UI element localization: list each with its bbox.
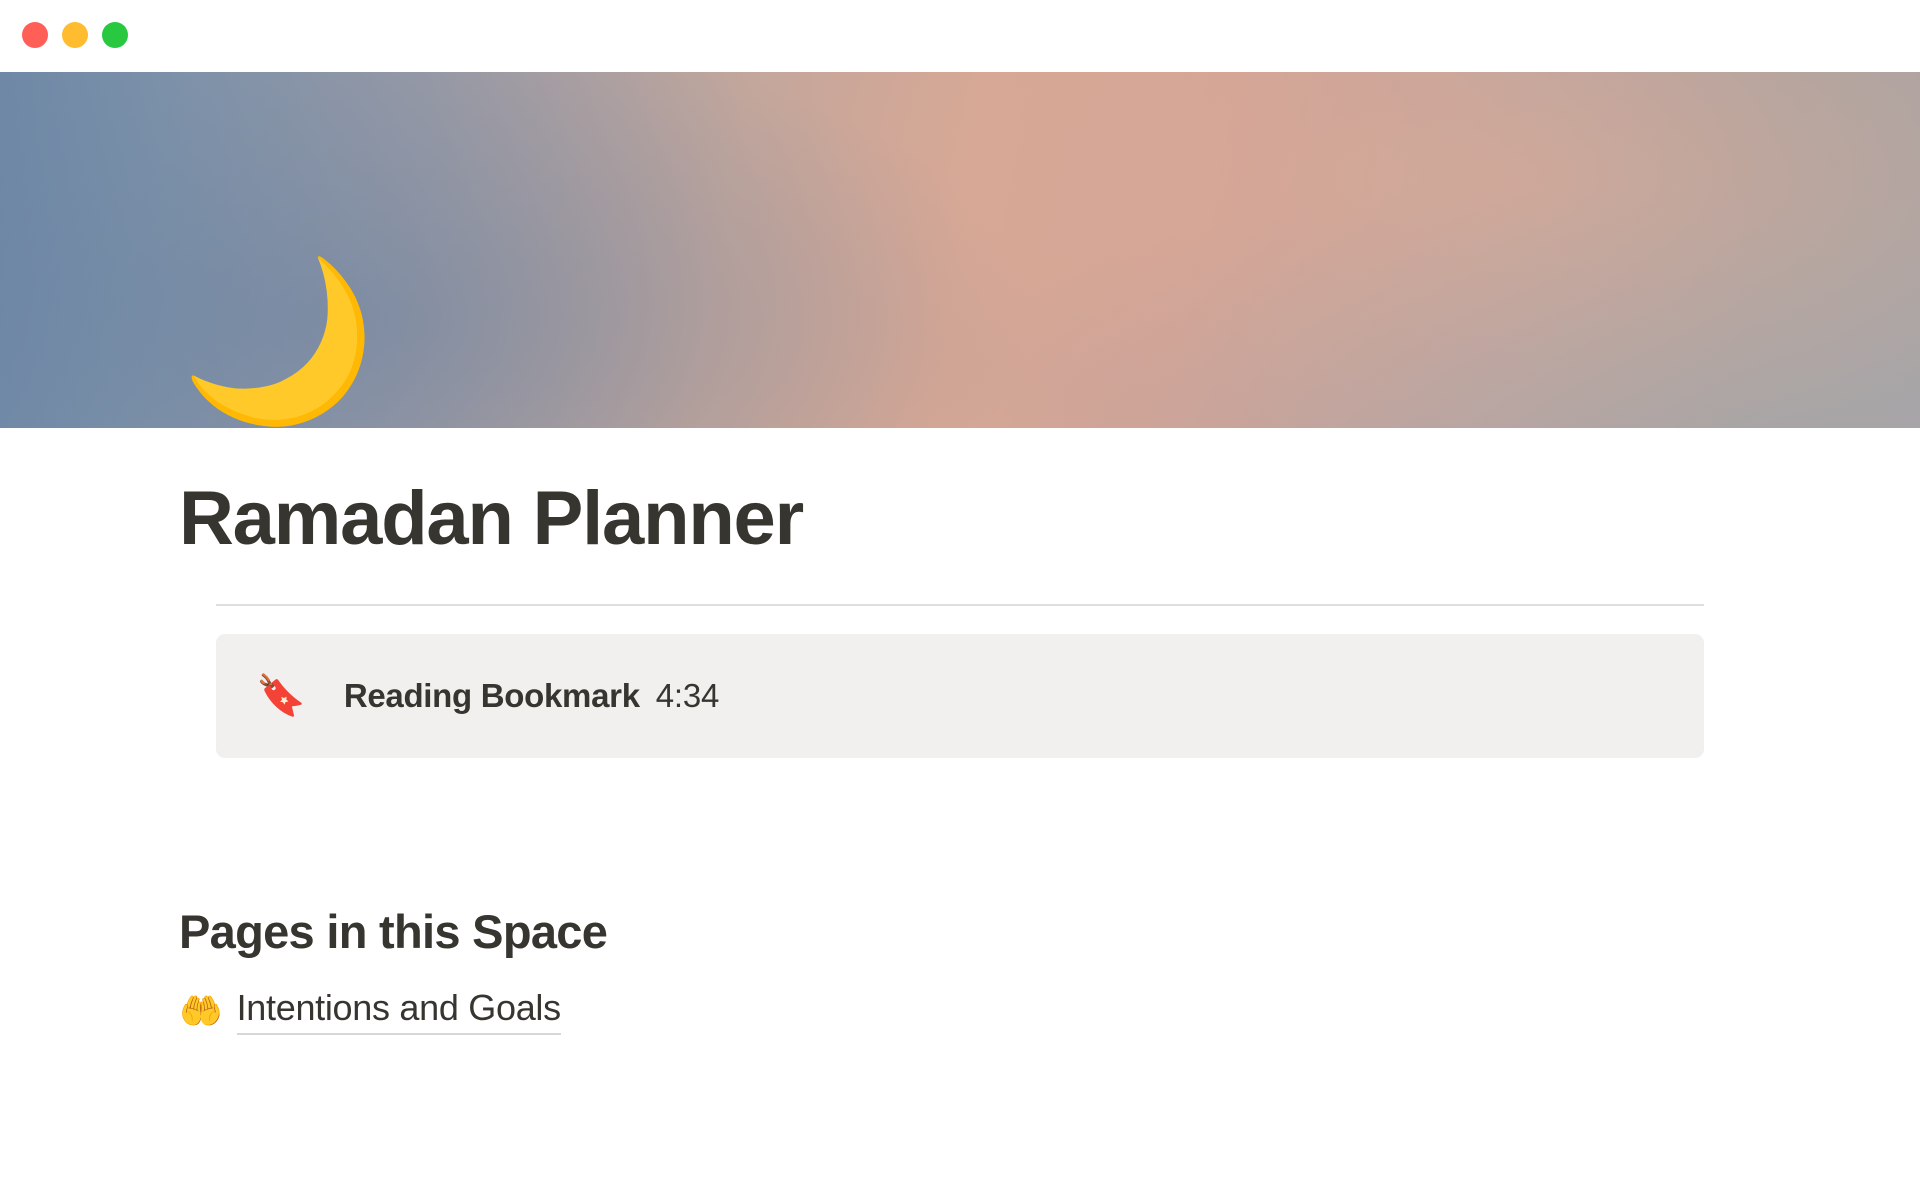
page-title[interactable]: Ramadan Planner — [179, 478, 1704, 560]
callout-label: Reading Bookmark — [344, 677, 640, 715]
page-link-label[interactable]: Intentions and Goals — [237, 987, 561, 1035]
section-heading-pages-in-this-space[interactable]: Pages in this Space — [179, 904, 1704, 959]
callout-value[interactable]: 4:34 — [656, 677, 719, 715]
bookmark-icon: 🔖 — [256, 676, 306, 716]
content-column: Ramadan Planner 🔖 Reading Bookmark 4:34 … — [216, 478, 1704, 1035]
open-hands-icon: 🤲 — [179, 994, 223, 1029]
page-link-intentions-and-goals[interactable]: 🤲 Intentions and Goals — [179, 987, 561, 1035]
horizontal-divider — [216, 604, 1704, 606]
page-content: 🌙 Ramadan Planner 🔖 Reading Bookmark 4:3… — [0, 0, 1920, 1200]
page-link-list: 🤲 Intentions and Goals — [179, 987, 1704, 1035]
crescent-moon-icon[interactable]: 🌙 — [180, 262, 377, 420]
app-window: 🌙 Ramadan Planner 🔖 Reading Bookmark 4:3… — [0, 0, 1920, 1200]
callout-text-group: Reading Bookmark 4:34 — [344, 677, 719, 715]
reading-bookmark-callout[interactable]: 🔖 Reading Bookmark 4:34 — [216, 634, 1704, 758]
